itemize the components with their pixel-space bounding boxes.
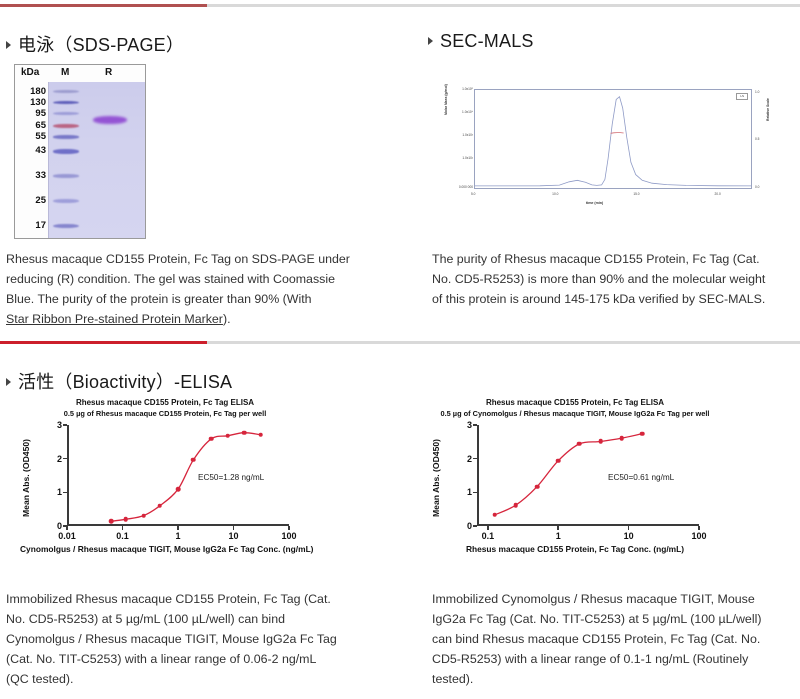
elisa-2-title: Rhesus macaque CD155 Protein, Fc Tag ELI…: [430, 398, 720, 407]
sec-mals-y-tick: 1.0x10⁴: [462, 110, 473, 114]
elisa-y-tick-mark: [63, 458, 67, 460]
caption-line-wrap: IgG2a Fc Tag (Cat. No. TIT-C5253) at 5 µ…: [432, 609, 787, 629]
elisa-x-tick-mark: [487, 526, 489, 530]
elisa-x-tick-mark: [698, 526, 700, 530]
elisa-x-tick-mark: [557, 526, 559, 530]
gel-marker-band: [53, 149, 79, 154]
elisa-data-point: [176, 487, 181, 492]
gel-mw-label: 43: [35, 145, 46, 156]
elisa-data-point: [242, 430, 247, 435]
sec-mals-y-tick: 1.0x10²: [462, 156, 473, 160]
elisa-1-y-axis-label: Mean Abs. (OD450): [21, 439, 31, 517]
caption-line: can bind Rhesus macaque CD155 Protein, F…: [432, 632, 760, 646]
sec-mals-y-axis-label: Molar Mass (g/mol): [444, 105, 448, 115]
elisa-x-tick-label: 0.1: [116, 531, 129, 541]
sec-mals-x-axis-label: time (min): [586, 201, 603, 205]
elisa-2-subtitle: 0.5 µg of Cynomolgus / Rhesus macaque TI…: [430, 409, 720, 418]
caption-line-wrap: Cynomolgus / Rhesus macaque TIGIT, Mouse…: [6, 629, 351, 649]
section-title-text: SEC-MALS: [440, 31, 534, 51]
elisa-y-tick-label: 0: [467, 521, 472, 531]
sec-mals-y2-axis-label: Relative Scale: [766, 98, 770, 121]
elisa-1-title: Rhesus macaque CD155 Protein, Fc Tag ELI…: [20, 398, 310, 407]
elisa-y-tick-mark: [63, 492, 67, 494]
caption-line-wrap: Star Ribbon Pre-stained Protein Marker).: [6, 309, 358, 329]
caption-line: No. CD5-R5253) is more than 90% and the …: [432, 272, 765, 286]
gel-mw-label: 130: [30, 97, 46, 108]
divider-accent-segment: [0, 4, 207, 7]
sec-mals-chart: Molar Mass (g/mol) Relative Scale time (…: [446, 83, 782, 211]
gel-sample-band: [93, 116, 127, 124]
gel-mw-label: 65: [35, 120, 46, 131]
section-title-sec-mals: SEC-MALS: [428, 31, 534, 52]
caption-line: IgG2a Fc Tag (Cat. No. TIT-C5253) at 5 µ…: [432, 612, 761, 626]
caption-line-wrap: (QC tested).: [6, 669, 351, 689]
elisa-data-point: [225, 433, 230, 438]
gel-lane-r-header: R: [105, 67, 112, 78]
gel-molecular-weight-labels: 18013095655543332517: [17, 82, 48, 238]
elisa-data-point: [620, 436, 625, 441]
gel-mw-label: 25: [35, 195, 46, 206]
elisa-x-tick-mark: [177, 526, 179, 530]
gel-marker-band: [53, 124, 79, 128]
elisa-data-point: [158, 504, 163, 509]
caption-line-wrap: No. CD5-R5253) is more than 90% and the …: [432, 269, 794, 289]
caption-line: reducing (R) condition. The gel was stai…: [6, 272, 335, 286]
caption-line: Immobilized Cynomolgus / Rhesus macaque …: [432, 592, 755, 606]
sec-mals-y-tick: 1.0x10⁵: [462, 87, 473, 91]
sec-mals-x-tick: 5.0: [471, 192, 475, 196]
triangle-bullet-icon: [6, 41, 11, 49]
section-title-sds-page: 电泳（SDS-PAGE）: [6, 31, 184, 57]
elisa-y-tick-label: 2: [467, 454, 472, 464]
elisa-1-x-axis-label: Cynomolgus / Rhesus macaque TIGIT, Mouse…: [20, 544, 310, 554]
caption-line: tested).: [432, 672, 473, 686]
elisa-data-point: [124, 517, 129, 522]
elisa-data-point: [141, 513, 146, 518]
caption-line: of this protein is around 145-175 kDa ve…: [432, 292, 765, 306]
elisa-chart-1: Rhesus macaque CD155 Protein, Fc Tag ELI…: [20, 398, 310, 558]
elisa-x-tick-label: 1: [556, 531, 561, 541]
gel-marker-band: [53, 90, 79, 93]
gel-lane-m-header: M: [61, 67, 69, 78]
sec-mals-legend: LS: [736, 93, 748, 100]
elisa-data-point: [577, 442, 582, 447]
elisa-data-point: [556, 458, 561, 463]
elisa-1-subtitle: 0.5 µg of Rhesus macaque CD155 Protein, …: [20, 409, 310, 418]
sec-mals-y2-tick: 1.0: [755, 90, 759, 94]
caption-line: (QC tested).: [6, 672, 73, 686]
elisa-y-tick-label: 0: [57, 521, 62, 531]
elisa-2-ec50-annotation: EC50=0.61 ng/mL: [608, 473, 674, 482]
elisa-data-point: [191, 457, 196, 462]
caption-elisa-2: Immobilized Cynomolgus / Rhesus macaque …: [432, 589, 787, 689]
caption-line: The purity of Rhesus macaque CD155 Prote…: [432, 252, 760, 266]
elisa-x-tick-mark: [66, 526, 68, 530]
caption-line: ).: [223, 312, 231, 326]
elisa-x-tick-mark: [122, 526, 124, 530]
gel-lane-headers: kDa M R: [15, 67, 145, 81]
elisa-x-tick-label: 0.01: [58, 531, 76, 541]
caption-line-wrap: The purity of Rhesus macaque CD155 Prote…: [432, 249, 794, 269]
triangle-bullet-icon: [6, 378, 11, 386]
caption-line: Blue. The purity of the protein is great…: [6, 292, 312, 306]
elisa-chart-2: Rhesus macaque CD155 Protein, Fc Tag ELI…: [430, 398, 720, 558]
caption-line-wrap: can bind Rhesus macaque CD155 Protein, F…: [432, 629, 787, 649]
gel-mw-label: 33: [35, 170, 46, 181]
caption-line-wrap: Rhesus macaque CD155 Protein, Fc Tag on …: [6, 249, 358, 269]
elisa-data-point: [535, 484, 540, 489]
sds-page-gel-image: kDa M R 18013095655543332517: [14, 64, 146, 239]
elisa-2-x-axis-label: Rhesus macaque CD155 Protein, Fc Tag Con…: [430, 544, 720, 554]
elisa-data-point: [492, 513, 497, 518]
sec-mals-x-tick: 10.0: [552, 192, 558, 196]
sec-mals-x-tick: 15.0: [633, 192, 639, 196]
protein-marker-link[interactable]: Star Ribbon Pre-stained Protein Marker: [6, 312, 223, 326]
sec-mals-series: [475, 97, 751, 186]
top-divider: [0, 4, 800, 7]
caption-line-wrap: reducing (R) condition. The gel was stai…: [6, 269, 358, 289]
sec-mals-y2-tick: 0.0: [755, 185, 759, 189]
caption-line: Immobilized Rhesus macaque CD155 Protein…: [6, 592, 331, 606]
caption-line: CD5-R5253) with a linear range of 0.1-1 …: [432, 652, 748, 666]
section-title-text: 电泳（SDS-PAGE）: [18, 35, 184, 55]
elisa-y-tick-mark: [473, 492, 477, 494]
elisa-x-tick-mark: [628, 526, 630, 530]
section-title-bioactivity: 活性（Bioactivity）-ELISA: [6, 368, 232, 394]
elisa-x-tick-label: 100: [691, 531, 706, 541]
sec-mals-series: [611, 133, 624, 134]
caption-line-wrap: CD5-R5253) with a linear range of 0.1-1 …: [432, 649, 787, 669]
elisa-x-tick-label: 10: [624, 531, 634, 541]
caption-elisa-1: Immobilized Rhesus macaque CD155 Protein…: [6, 589, 351, 689]
sec-mals-x-tick: 20.0: [715, 192, 721, 196]
sec-mals-y2-tick: 0.5: [755, 137, 759, 141]
caption-line: Cynomolgus / Rhesus macaque TIGIT, Mouse…: [6, 632, 337, 646]
caption-line-wrap: No. CD5-R5253) at 5 µg/mL (100 µL/well) …: [6, 609, 351, 629]
caption-line-wrap: Blue. The purity of the protein is great…: [6, 289, 358, 309]
gel-lanes: [48, 82, 145, 238]
elisa-data-point: [640, 431, 645, 436]
elisa-y-tick-label: 3: [467, 420, 472, 430]
gel-mw-label: 95: [35, 108, 46, 119]
elisa-x-tick-label: 100: [281, 531, 296, 541]
sec-mals-trace: [475, 90, 751, 188]
gel-mw-label: 180: [30, 86, 46, 97]
caption-line: (Cat. No. TIT-C5253) with a linear range…: [6, 652, 316, 666]
gel-mw-label: 55: [35, 131, 46, 142]
gel-mw-label: 17: [35, 220, 46, 231]
elisa-x-tick-label: 10: [228, 531, 238, 541]
elisa-y-tick-label: 1: [57, 487, 62, 497]
elisa-x-tick-mark: [233, 526, 235, 530]
elisa-y-tick-label: 1: [467, 487, 472, 497]
elisa-y-tick-mark: [473, 525, 477, 527]
elisa-y-tick-label: 2: [57, 454, 62, 464]
caption-line-wrap: Immobilized Cynomolgus / Rhesus macaque …: [432, 589, 787, 609]
gel-marker-band: [53, 135, 79, 139]
caption-line: Rhesus macaque CD155 Protein, Fc Tag on …: [6, 252, 350, 266]
elisa-data-point: [514, 503, 519, 508]
gel-marker-band: [53, 101, 79, 104]
triangle-bullet-icon: [428, 37, 433, 45]
gel-marker-band: [53, 174, 79, 178]
elisa-data-point: [598, 439, 603, 444]
gel-marker-band: [53, 224, 79, 228]
caption-line-wrap: of this protein is around 145-175 kDa ve…: [432, 289, 794, 309]
sec-mals-y-tick: 0.000 000: [459, 185, 473, 189]
elisa-y-tick-mark: [473, 424, 477, 426]
elisa-2-y-axis-label: Mean Abs. (OD450): [431, 439, 441, 517]
caption-sec-mals: The purity of Rhesus macaque CD155 Prote…: [432, 249, 794, 309]
elisa-y-tick-mark: [63, 424, 67, 426]
elisa-1-ec50-annotation: EC50=1.28 ng/mL: [198, 473, 264, 482]
elisa-y-tick-mark: [473, 458, 477, 460]
section-divider: [0, 341, 800, 344]
divider-accent-segment: [0, 341, 207, 344]
gel-marker-band: [53, 112, 79, 115]
elisa-data-point: [109, 519, 114, 524]
caption-sds-page: Rhesus macaque CD155 Protein, Fc Tag on …: [6, 249, 358, 329]
gel-marker-band: [53, 199, 79, 203]
caption-line-wrap: tested).: [432, 669, 787, 689]
sec-mals-y-tick: 1.0x10³: [462, 133, 473, 137]
elisa-y-tick-label: 3: [57, 420, 62, 430]
caption-line: No. CD5-R5253) at 5 µg/mL (100 µL/well) …: [6, 612, 285, 626]
elisa-x-tick-label: 0.1: [482, 531, 495, 541]
elisa-data-point: [258, 432, 263, 437]
elisa-x-tick-mark: [288, 526, 290, 530]
elisa-data-point: [209, 437, 214, 442]
gel-kda-header: kDa: [21, 67, 39, 78]
section-title-text: 活性（Bioactivity）-ELISA: [18, 372, 232, 392]
caption-line-wrap: (Cat. No. TIT-C5253) with a linear range…: [6, 649, 351, 669]
sec-mals-plot-area: LS: [474, 89, 752, 189]
elisa-x-tick-label: 1: [175, 531, 180, 541]
caption-line-wrap: Immobilized Rhesus macaque CD155 Protein…: [6, 589, 351, 609]
